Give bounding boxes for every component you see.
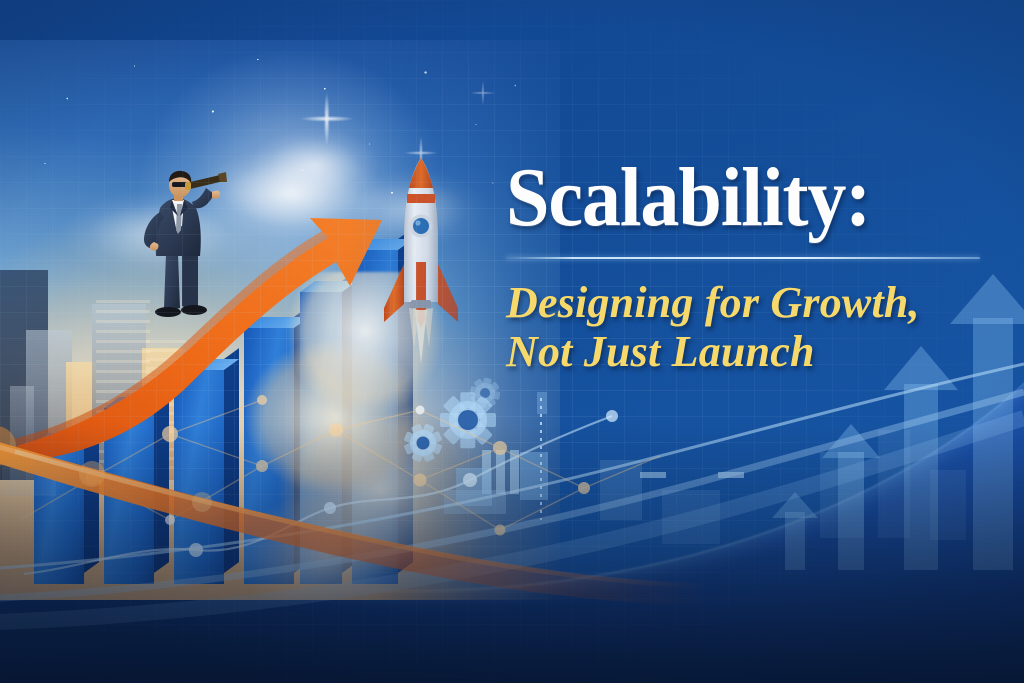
headline-block: Scalability: Designing for Growth, Not J… <box>506 158 998 376</box>
businessman-with-telescope <box>128 168 246 320</box>
subtitle-line-2: Not Just Launch <box>506 328 998 376</box>
page-subtitle: Designing for Growth, Not Just Launch <box>506 279 998 376</box>
page-title: Scalability: <box>506 158 964 239</box>
orange-light-swoosh <box>0 370 700 650</box>
subtitle-line-1: Designing for Growth, <box>506 278 920 327</box>
title-divider <box>506 257 980 260</box>
banner-canvas: Scalability: Designing for Growth, Not J… <box>0 0 1024 683</box>
